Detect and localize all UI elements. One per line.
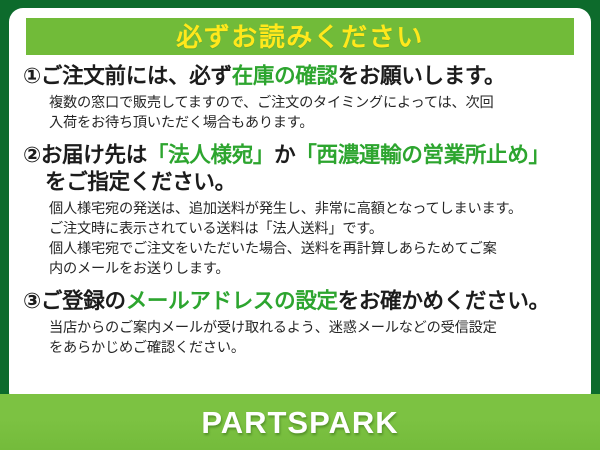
notice-paper: 必ずお読みください ①ご注文前には、必ず在庫の確認をお願いします。 複数の窓口で… [9,8,591,402]
notice-item-3-heading-highlight: メールアドレスの設定 [126,289,338,313]
notice-item-3-body-line-1: をあらかじめご確認ください。 [49,338,577,358]
notice-item-2-heading-part-2: か [274,143,295,167]
notice-item-2-heading: ②お届け先は「法人様宛」か「西濃運輸の営業所止め」をご指定ください。 [23,142,577,197]
notice-item-1-heading-part-0: ①ご注文前には、必ず [23,64,232,88]
notice-item-2-heading-highlight-2: 「西濃運輸の営業所止め」 [295,143,549,167]
notice-item-3-body: 当店からのご案内メールが受け取れるよう、迷惑メールなどの受信設定 をあらかじめご… [23,318,577,358]
notice-item-1-heading-part-2: をお願いします。 [338,64,505,88]
notice-item-1-heading: ①ご注文前には、必ず在庫の確認をお願いします。 [23,63,577,91]
notice-item-2-body-line-3: 内のメールをお送りします。 [49,259,577,279]
notice-item-2-heading-line-2: をご指定ください。 [23,169,577,197]
notice-item-2-heading-part-0: ②お届け先は [23,143,147,167]
notice-item-3-heading-part-2: をお確かめください。 [338,289,550,313]
notice-item-3-heading: ③ご登録のメールアドレスの設定をお確かめください。 [23,288,577,316]
title-banner: 必ずお読みください [26,18,574,55]
notice-card: 必ずお読みください ①ご注文前には、必ず在庫の確認をお願いします。 複数の窓口で… [0,0,600,450]
notice-item-3: ③ご登録のメールアドレスの設定をお確かめください。 当店からのご案内メールが受け… [23,288,577,358]
notice-item-1-heading-highlight: 在庫の確認 [232,64,338,88]
notice-item-2-heading-highlight-1: 「法人様宛」 [147,143,274,167]
notice-item-1: ①ご注文前には、必ず在庫の確認をお願いします。 複数の窓口で販売してますので、ご… [23,63,577,133]
notice-item-2-body-line-1: ご注文時に表示されている送料は「法人送料」です。 [49,219,577,239]
notice-item-3-heading-part-0: ③ご登録の [23,289,126,313]
page-title: 必ずお読みください [176,24,424,50]
brand-logo-text: PARTSPARK [201,407,398,438]
notice-item-3-body-line-0: 当店からのご案内メールが受け取れるよう、迷惑メールなどの受信設定 [49,318,577,338]
notice-item-1-body: 複数の窓口で販売してますので、ご注文のタイミングによっては、次回 入荷をお待ち頂… [23,93,577,133]
notice-item-2-body-line-2: 個人様宅宛でご注文をいただいた場合、送料を再計算しあらためてご案 [49,239,577,259]
notice-items: ①ご注文前には、必ず在庫の確認をお願いします。 複数の窓口で販売してますので、ご… [19,55,581,358]
notice-item-2: ②お届け先は「法人様宛」か「西濃運輸の営業所止め」をご指定ください。 個人様宅宛… [23,142,577,280]
notice-item-2-body-line-0: 個人様宅宛の発送は、追加送料が発生し、非常に高額となってしまいます。 [49,199,577,219]
notice-item-1-body-line-0: 複数の窓口で販売してますので、ご注文のタイミングによっては、次回 [49,93,577,113]
footer-bar: PARTSPARK [0,394,600,450]
notice-item-1-body-line-1: 入荷をお待ち頂いただく場合もあります。 [49,113,577,133]
notice-item-2-body: 個人様宅宛の発送は、追加送料が発生し、非常に高額となってしまいます。 ご注文時に… [23,199,577,280]
